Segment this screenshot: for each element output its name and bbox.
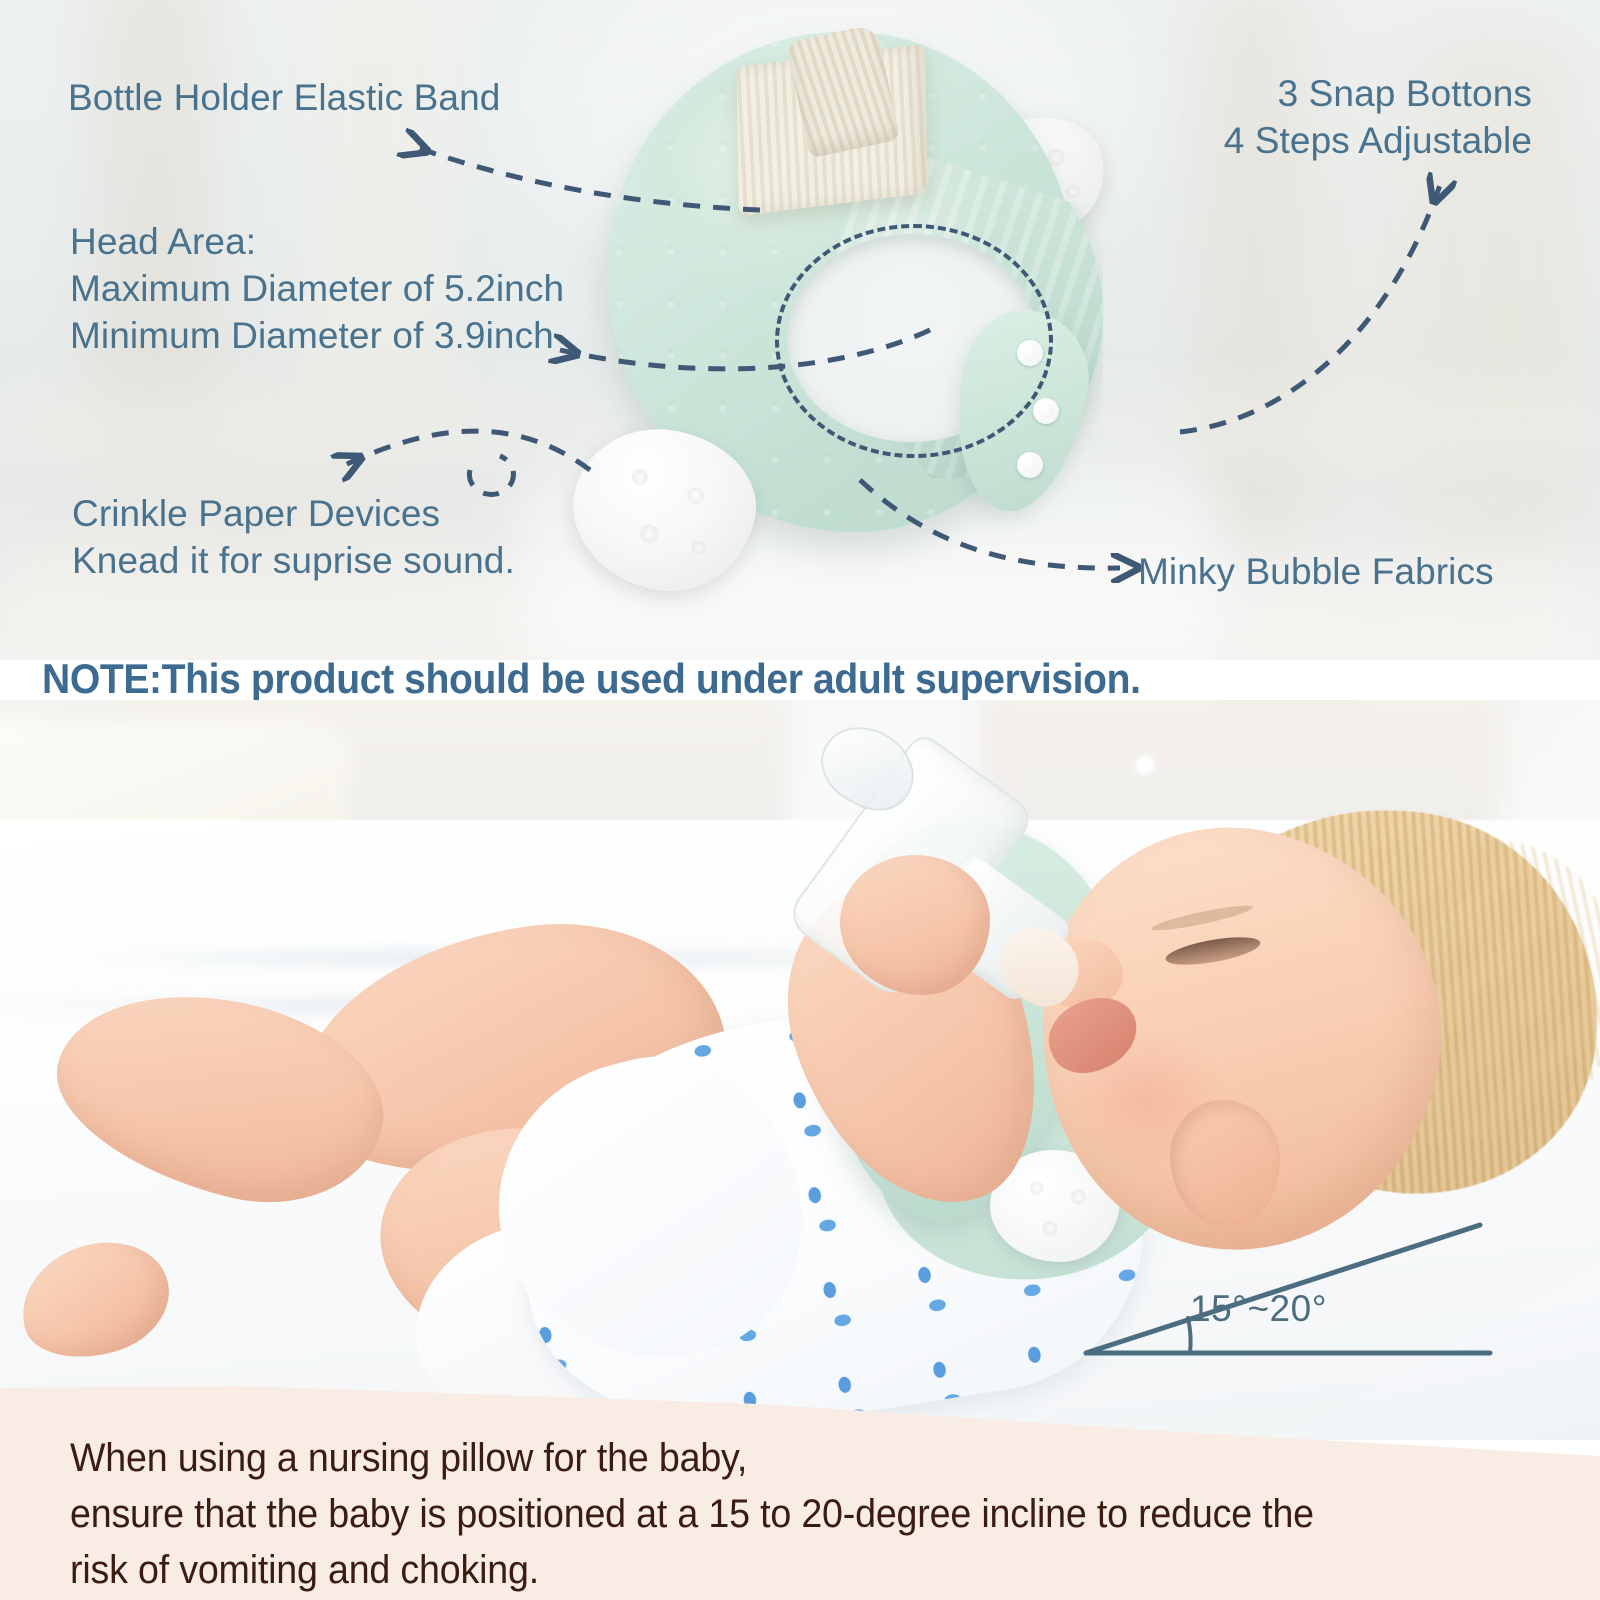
arrow-loop-crinkle: [469, 456, 513, 494]
label-minky-bubble-fabrics: Minky Bubble Fabrics: [1138, 548, 1494, 595]
label-bottle-holder-elastic-band: Bottle Holder Elastic Band: [68, 74, 500, 121]
angle-label: 15°~20°: [1190, 1288, 1327, 1330]
feature-callout-panel: Bottle Holder Elastic Band Head Area: Ma…: [0, 0, 1600, 660]
supervision-note: NOTE:This product should be used under a…: [42, 655, 1141, 703]
arrow-to-snap-buttons: [1180, 185, 1440, 432]
arrow-to-crinkle-paper: [345, 431, 590, 470]
arrow-to-head-area: [560, 330, 930, 369]
arrow-to-elastic-band: [410, 145, 760, 210]
product-infographic: Bottle Holder Elastic Band Head Area: Ma…: [0, 0, 1600, 1600]
label-crinkle-paper: Crinkle Paper Devices Knead it for supri…: [72, 490, 515, 584]
incline-angle-diagram: [1060, 1175, 1510, 1385]
bokeh-highlight: [1136, 756, 1154, 774]
label-snap-buttons: 3 Snap Bottons 4 Steps Adjustable: [1224, 70, 1532, 164]
arrow-to-minky-fabric: [860, 480, 1120, 568]
usage-caption: When using a nursing pillow for the baby…: [70, 1430, 1424, 1598]
label-head-area: Head Area: Maximum Diameter of 5.2inch M…: [70, 218, 564, 359]
